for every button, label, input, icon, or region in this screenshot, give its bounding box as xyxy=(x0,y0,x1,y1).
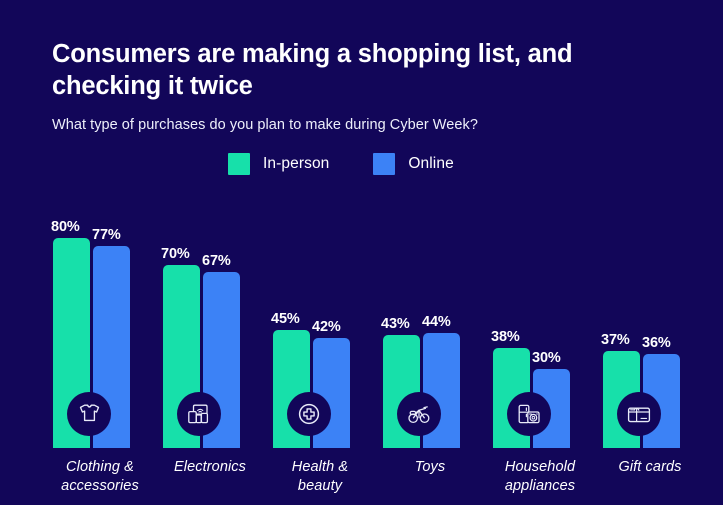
page-title: Consumers are making a shopping list, an… xyxy=(52,38,667,102)
x-axis-label: Gift cards xyxy=(590,458,710,477)
x-axis-label: Electronics xyxy=(150,458,270,477)
x-axis-label: Householdappliances xyxy=(480,458,600,497)
bar-group: 37%36% xyxy=(595,186,705,448)
x-axis-label-line: Gift cards xyxy=(618,459,681,475)
bar-value-label: 30% xyxy=(532,350,561,366)
x-axis-label: Clothing &accessories xyxy=(40,458,160,497)
x-axis-label-line: Household xyxy=(505,459,575,475)
chart-subtitle: What type of purchases do you plan to ma… xyxy=(52,117,677,133)
bar-value-label: 36% xyxy=(642,335,671,351)
legend-swatch-online xyxy=(373,153,395,175)
legend-label-in-person: In-person xyxy=(263,155,329,173)
chart-legend: In-person Online xyxy=(228,153,454,175)
x-axis-label-line: Clothing & xyxy=(66,459,134,475)
tshirt-icon xyxy=(67,392,111,436)
bar-value-label: 45% xyxy=(271,311,300,327)
x-axis-label-line: Toys xyxy=(415,459,446,475)
bar-value-label: 70% xyxy=(161,246,190,262)
legend-item-online[interactable]: Online xyxy=(373,153,453,175)
gift-card-icon xyxy=(617,392,661,436)
chart-plot-area: 80%77%70%67%45%42%43%44%38%30%37%36% xyxy=(0,186,723,448)
bar-group: 45%42% xyxy=(265,186,375,448)
devices-icon xyxy=(177,392,221,436)
tricycle-icon xyxy=(397,392,441,436)
bar-value-label: 38% xyxy=(491,329,520,345)
bar-value-label: 43% xyxy=(381,316,410,332)
medical-cross-icon xyxy=(287,392,331,436)
bar-value-label: 67% xyxy=(202,253,231,269)
bar-value-label: 77% xyxy=(92,227,121,243)
legend-swatch-in-person xyxy=(228,153,250,175)
x-axis-label-line: accessories xyxy=(61,478,139,494)
x-axis-label-line: appliances xyxy=(505,478,575,494)
bar-group: 43%44% xyxy=(375,186,485,448)
bar-value-label: 80% xyxy=(51,219,80,235)
appliances-icon xyxy=(507,392,551,436)
bar-group: 80%77% xyxy=(45,186,155,448)
bar-group: 70%67% xyxy=(155,186,265,448)
bar-value-label: 44% xyxy=(422,314,451,330)
x-axis-label-line: beauty xyxy=(298,478,342,494)
bar-value-label: 42% xyxy=(312,319,341,335)
x-axis-label: Toys xyxy=(370,458,490,477)
bar-value-label: 37% xyxy=(601,332,630,348)
chart-card: Consumers are making a shopping list, an… xyxy=(0,0,723,505)
legend-label-online: Online xyxy=(408,155,453,173)
chart-x-axis: Clothing &accessoriesElectronicsHealth &… xyxy=(0,458,723,505)
chart-header: Consumers are making a shopping list, an… xyxy=(52,38,677,133)
x-axis-label-line: Electronics xyxy=(174,459,246,475)
x-axis-label-line: Health & xyxy=(292,459,348,475)
x-axis-label: Health &beauty xyxy=(260,458,380,497)
legend-item-in-person[interactable]: In-person xyxy=(228,153,329,175)
bar-group: 38%30% xyxy=(485,186,595,448)
